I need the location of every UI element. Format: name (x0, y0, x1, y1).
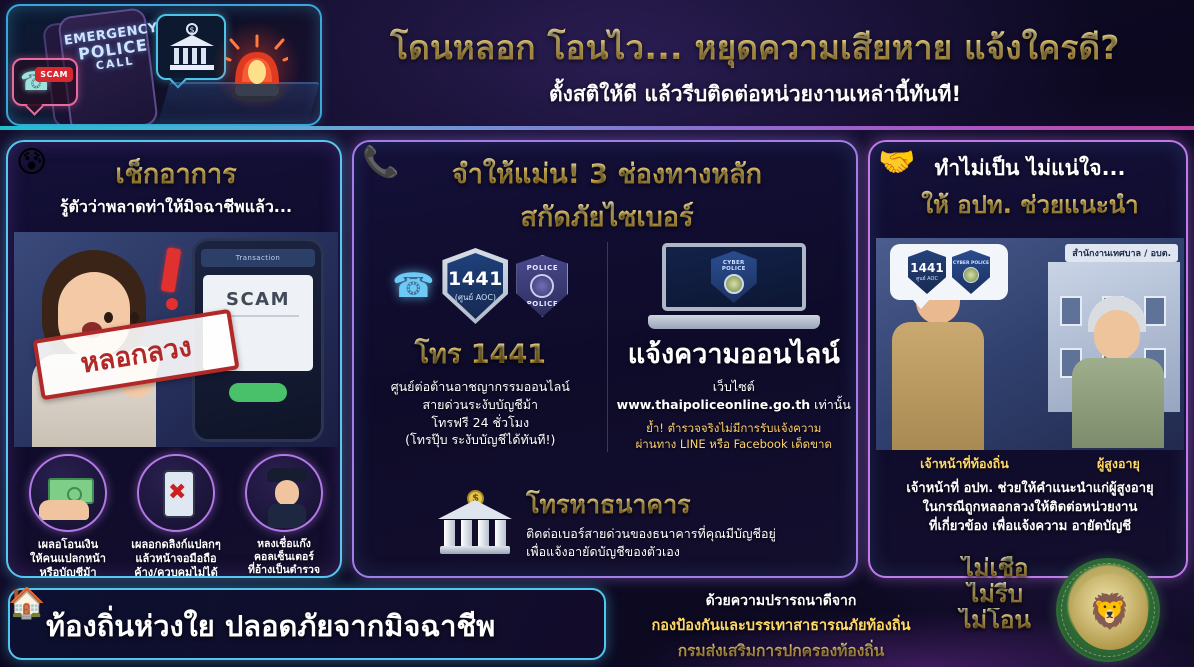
header: EMERGENCY POLICE CALL ☎ SCAM $ (0, 0, 1194, 130)
seal-lion-glyph: 🦁 (1072, 574, 1148, 650)
page-title: โดนหลอก โอนไว... หยุดความเสียหาย แจ้งใคร… (390, 21, 1119, 74)
call-badges: ☎ 1441 (ศูนย์ AOC) POLICE POLICE (362, 242, 599, 330)
laptop-icon: CYBER POLICE (648, 243, 820, 329)
warning-line: ย้ำ! ตำรวจจริงไม่มีการรับแจ้งความ (616, 420, 853, 436)
aoc-shield-icon: 1441 ศูนย์ AOC (908, 250, 946, 294)
cyber-police-badge-icon: CYBER POLICE (952, 250, 990, 294)
online-report-heading: แจ้งความออนไลน์ (616, 332, 853, 375)
local-office-scene: สำนักงานเทศบาล / อบต. 1441 ศูนย์ AOC CYB… (876, 238, 1184, 450)
aoc-shield-icon: 1441 (ศูนย์ AOC) (442, 248, 508, 324)
credit-line-2: กองป้องกันและบรรเทาสาธารณภัยท้องถิ่น (622, 614, 940, 637)
symptom-text: หลงเชื่อแก๊ง คอลเซ็นเตอร์ ที่อ้างเป็นตำร… (234, 538, 334, 578)
mid-panel-title-line1: จำให้แม่น! 3 ช่องทางหลัก (354, 152, 858, 195)
bank-line-2: เพื่อแจ้งอายัดบัญชีของตัวเอง (526, 543, 776, 561)
detail-line: สายด่วนระงับบัญชีม้า (362, 396, 599, 414)
slogan-line-3: ไม่โอน (940, 608, 1050, 634)
shield-number: 1441 (448, 268, 503, 290)
list-item: เผลอโอนเงิน ให้คนแปลกหน้า หรือบัญชีม้า (18, 454, 118, 578)
mid-panel-title-line2: สกัดภัยไซเบอร์ (354, 195, 858, 238)
credit-line-3: กรมส่งเสริมการปกครองท้องถิ่น (622, 638, 940, 663)
body-line: ในกรณีถูกหลอกลวงให้ติดต่อหน่วยงาน (878, 499, 1182, 518)
exclamation-dot (166, 298, 178, 310)
bank-title: โทรหาธนาคาร (526, 485, 776, 525)
fake-police-icon (245, 454, 323, 532)
symptom-cards: เผลอโอนเงิน ให้คนแปลกหน้า หรือบัญชีม้า ✖… (12, 454, 340, 578)
cyber-police-label: CYBER POLICE (711, 260, 757, 272)
right-panel-heading: ทำไม่เป็น ไม่แน่ใจ... ให้ อปท. ช่วยแนะนำ (870, 152, 1188, 224)
left-panel-heading: เช็กอาการ รู้ตัวว่าพลาดท่าให้มิจฉาชีพแล้… (8, 152, 342, 220)
svg-text:$: $ (189, 26, 194, 35)
symptom-text: เผลอกดลิงก์แปลกๆ แล้วหน้าจอมือถือ ค้าง/ค… (126, 538, 226, 578)
footer-slogan-text: ท้องถิ่นห่วงใย ปลอดภัยจากมิจฉาชีพ (46, 590, 590, 662)
office-sign: สำนักงานเทศบาล / อบต. (1065, 244, 1178, 262)
mid-panel-heading: จำให้แม่น! 3 ช่องทางหลัก สกัดภัยไซเบอร์ (354, 152, 858, 238)
right-panel-body: เจ้าหน้าที่ อปท. ช่วยให้คำแนะนำแก่ผู้สูง… (878, 480, 1182, 537)
phone-scam-text: SCAM (195, 289, 321, 310)
website-url-suffix: เท่านั้น (810, 397, 851, 412)
bubble-shield-number: 1441 (910, 261, 943, 275)
left-panel-title: เช็กอาการ (8, 152, 342, 195)
money-hand-icon (29, 454, 107, 532)
online-report-details: เว็บไซต์ www.thaipoliceonline.go.th เท่า… (616, 378, 853, 414)
bank-hotline-section: $ โทรหาธนาคาร ติดต่อเบอร์สายด่วนของธนาคา… (354, 485, 858, 560)
detail-line: โทรฟรี 24 ชั่วโมง (362, 414, 599, 432)
detail-line: (โทรปุ๊บ ระงับบัญชีได้ทันที!) (362, 431, 599, 449)
list-item: หลงเชื่อแก๊ง คอลเซ็นเตอร์ ที่อ้างเป็นตำร… (234, 454, 334, 578)
bank-line-1: ติดต่อเบอร์สายด่วนของธนาคารที่คุณมีบัญชี… (526, 525, 776, 543)
police-badge-top: POLICE (527, 264, 559, 272)
right-panel-title-line2: ให้ อปท. ช่วยแนะนำ (870, 185, 1188, 224)
worried-face-icon: 😰 (16, 148, 47, 178)
footer-banner: 🏠 ท้องถิ่นห่วงใย ปลอดภัยจากมิจฉาชีพ (8, 588, 606, 660)
scam-call-bubble: ☎ SCAM (12, 58, 78, 106)
three-no-slogan: ไม่เชื่อ ไม่รีบ ไม่โอน (940, 556, 1050, 634)
bank-text-block: โทรหาธนาคาร ติดต่อเบอร์สายด่วนของธนาคารท… (526, 485, 776, 560)
scam-chip-label: SCAM (35, 67, 73, 82)
police-badge-icon: POLICE POLICE (516, 255, 568, 317)
advice-speech-bubble: 1441 ศูนย์ AOC CYBER POLICE (890, 244, 1008, 300)
phone-app-header: Transaction (201, 249, 315, 267)
column-online-report: CYBER POLICE แจ้งความออนไลน์ เว็บไซต์ ww… (608, 242, 859, 452)
phone-x-icon: ✖ (137, 454, 215, 532)
body-line: ที่เกี่ยวข้อง เพื่อแจ้งความ อายัดบัญชี (878, 518, 1182, 537)
header-artwork: EMERGENCY POLICE CALL ☎ SCAM $ (6, 4, 322, 126)
credit-block: ด้วยความปรารถนาดีจาก กองป้องกันและบรรเทา… (622, 590, 940, 663)
warning-line: ผ่านทาง LINE หรือ Facebook เด็ดขาด (616, 436, 853, 452)
woman-eye-right (130, 312, 139, 323)
department-seal: 🦁 (1056, 558, 1160, 662)
detail-line: ศูนย์ต่อต้านอาชญากรรมออนไลน์ (362, 378, 599, 396)
website-url[interactable]: www.thaipoliceonline.go.th (617, 397, 811, 412)
shield-sublabel: (ศูนย์ AOC) (455, 291, 496, 304)
panel-local-authority-help: 🤝 ทำไม่เป็น ไม่แน่ใจ... ให้ อปท. ช่วยแนะ… (868, 140, 1188, 578)
caption-officer: เจ้าหน้าที่ท้องถิ่น (920, 454, 1009, 474)
woman-eye-left (104, 312, 113, 323)
credit-line-1: ด้วยความปรารถนาดีจาก (622, 590, 940, 612)
call-1441-details: ศูนย์ต่อต้านอาชญากรรมออนไลน์ สายด่วนระงั… (362, 378, 599, 449)
scam-victim-scene: Transaction SCAM หลอกลวง (14, 232, 338, 447)
bubble-badge-label: CYBER POLICE (953, 261, 989, 266)
mid-panel-columns: ☎ 1441 (ศูนย์ AOC) POLICE POLICE โทร 144… (354, 242, 858, 452)
page-subtitle: ตั้งสติให้ดี แล้วรีบติดต่อหน่วยงานเหล่าน… (549, 78, 961, 111)
telephone-icon: 📞 (362, 148, 399, 178)
website-label: เว็บไซต์ (616, 378, 853, 396)
slogan-line-1: ไม่เชื่อ (940, 556, 1050, 582)
handshake-icon: 🤝 (878, 148, 915, 178)
caption-elderly: ผู้สูงอายุ (1097, 454, 1140, 474)
panel-three-channels: 📞 จำให้แม่น! 3 ช่องทางหลัก สกัดภัยไซเบอร… (352, 140, 858, 578)
header-text: โดนหลอก โอนไว... หยุดความเสียหาย แจ้งใคร… (322, 8, 1188, 124)
police-badge-bottom: POLICE (527, 300, 559, 308)
panel-check-symptoms: 😰 เช็กอาการ รู้ตัวว่าพลาดท่าให้มิจฉาชีพแ… (6, 140, 342, 578)
elderly-person-illustration (1070, 296, 1166, 446)
call-1441-heading: โทร 1441 (362, 332, 599, 375)
bank-icon: $ (438, 490, 512, 556)
siren-icon (226, 34, 288, 104)
scene-captions: เจ้าหน้าที่ท้องถิ่น ผู้สูงอายุ (876, 454, 1184, 474)
ringing-phone-icon: ☎ (392, 266, 434, 306)
header-divider (0, 126, 1194, 130)
slogan-line-2: ไม่รีบ (940, 582, 1050, 608)
phone-confirm-button[interactable] (229, 383, 287, 402)
bubble-shield-sub: ศูนย์ AOC (916, 275, 938, 283)
online-report-warning: ย้ำ! ตำรวจจริงไม่มีการรับแจ้งความ ผ่านทา… (616, 420, 853, 452)
column-call-1441: ☎ 1441 (ศูนย์ AOC) POLICE POLICE โทร 144… (354, 242, 608, 452)
house-icon: 🏠 (8, 586, 45, 621)
right-panel-title-line1: ทำไม่เป็น ไม่แน่ใจ... (870, 152, 1188, 185)
left-panel-subtitle: รู้ตัวว่าพลาดท่าให้มิจฉาชีพแล้ว... (8, 195, 342, 220)
list-item: ✖ เผลอกดลิงก์แปลกๆ แล้วหน้าจอมือถือ ค้าง… (126, 454, 226, 578)
laptop-illustration-wrap: CYBER POLICE (616, 242, 853, 330)
symptom-text: เผลอโอนเงิน ให้คนแปลกหน้า หรือบัญชีม้า (18, 538, 118, 578)
infographic-root: EMERGENCY POLICE CALL ☎ SCAM $ (0, 0, 1194, 667)
body-line: เจ้าหน้าที่ อปท. ช่วยให้คำแนะนำแก่ผู้สูง… (878, 480, 1182, 499)
